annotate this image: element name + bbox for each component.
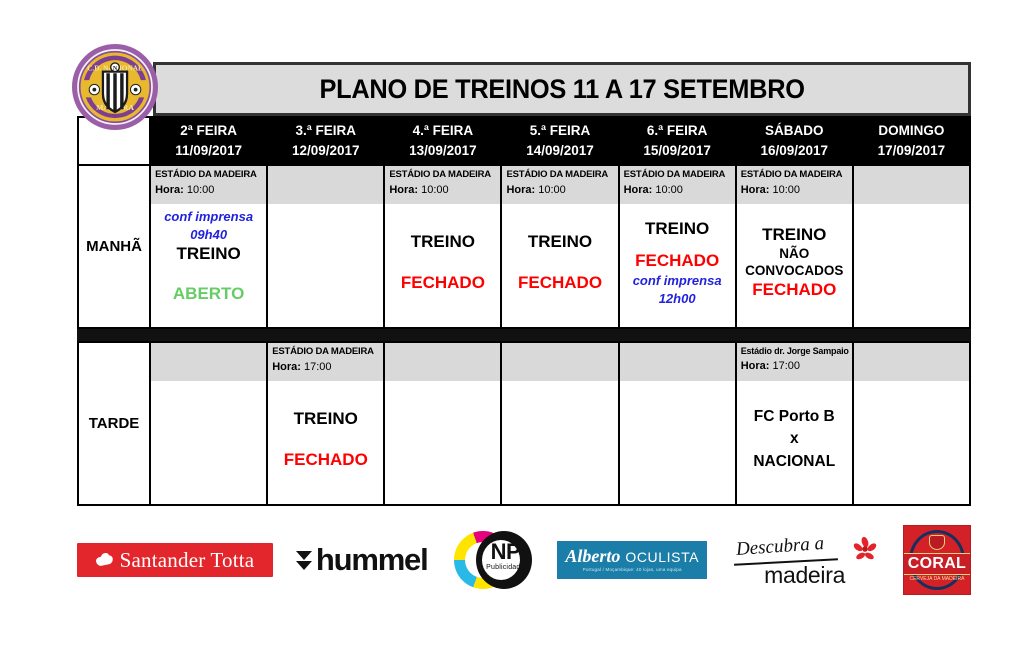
slot-header — [268, 166, 383, 204]
slot-header: ESTÁDIO DA MADEIRA Hora: 10:00 — [151, 166, 266, 204]
hour-prefix: Hora: — [155, 184, 184, 196]
slot-morning-monday: ESTÁDIO DA MADEIRA Hora: 10:00 conf impr… — [150, 165, 267, 328]
period-label-morning: MANHÃ — [78, 165, 150, 328]
press-conference-label: conf imprensa — [633, 272, 722, 290]
slot-body: TREINO FECHADO conf imprensa 12h00 — [620, 204, 735, 327]
sponsor-name: Alberto — [565, 547, 620, 565]
slot-hour: Hora: 17:00 — [272, 360, 379, 374]
sponsor-strip: Santander Totta hummel NP Publicidade — [77, 520, 971, 600]
status-badge: FECHADO — [518, 272, 602, 294]
slot-header — [620, 343, 735, 381]
hour-prefix: Hora: — [389, 184, 418, 196]
day-header-monday: 2ª FEIRA 11/09/2017 — [150, 117, 267, 165]
day-header-thursday: 5.ª FEIRA 14/09/2017 — [501, 117, 618, 165]
day-header-sunday: DOMINGO 17/09/2017 — [853, 117, 970, 165]
slot-venue: ESTÁDIO DA MADEIRA — [272, 346, 379, 358]
slot-body: TREINO FECHADO — [268, 381, 383, 504]
sponsor-name-secondary: madeira — [764, 562, 845, 589]
slot-venue: ESTÁDIO DA MADEIRA — [155, 169, 262, 181]
divider-cell — [78, 328, 150, 342]
day-name: DOMINGO — [854, 121, 969, 141]
slot-body: conf imprensa 09h40 TREINO ABERTO — [151, 204, 266, 327]
match-versus: x — [790, 428, 799, 450]
day-name: 5.ª FEIRA — [502, 121, 617, 141]
slot-venue: ESTÁDIO DA MADEIRA — [389, 169, 496, 181]
sponsor-santander-totta: Santander Totta — [77, 543, 273, 577]
slot-body — [854, 204, 969, 327]
slot-header — [502, 343, 617, 381]
sponsor-np-publicidade: NP Publicidade — [450, 525, 534, 595]
press-conference-time: 09h40 — [190, 226, 227, 244]
slot-afternoon-thursday — [501, 342, 618, 505]
slot-header: Estádio dr. Jorge Sampaio Hora: 17:00 — [737, 343, 852, 381]
sponsor-descubra-a-madeira: Descubra a madeira — [730, 532, 880, 588]
day-name: 2ª FEIRA — [151, 121, 266, 141]
slot-morning-tuesday — [267, 165, 384, 328]
afternoon-row: TARDE ESTÁDIO DA MADEIRA Ho — [78, 342, 970, 505]
hour-prefix: Hora: — [506, 184, 535, 196]
status-badge: FECHADO — [284, 449, 368, 471]
row-divider — [78, 328, 970, 342]
slot-venue: Estádio dr. Jorge Sampaio — [741, 346, 848, 357]
sponsor-tagline: Portugal / Moçambique: 40 lojas, uma equ… — [583, 568, 682, 573]
slot-afternoon-wednesday — [384, 342, 501, 505]
slot-morning-friday: ESTÁDIO DA MADEIRA Hora: 10:00 TREINO FE… — [619, 165, 736, 328]
training-schedule-table: 2ª FEIRA 11/09/2017 3.ª FEIRA 12/09/2017… — [77, 116, 971, 506]
sponsor-name: hummel — [316, 542, 428, 578]
day-header-wednesday: 4.ª FEIRA 13/09/2017 — [384, 117, 501, 165]
activity-label: TREINO — [762, 224, 826, 246]
slot-afternoon-friday — [619, 342, 736, 505]
slot-afternoon-tuesday: ESTÁDIO DA MADEIRA Hora: 17:00 TREINO FE… — [267, 342, 384, 505]
morning-row: MANHÃ ESTÁDIO DA MADEIRA Hora: 10:00 con… — [78, 165, 970, 328]
day-date: 17/09/2017 — [854, 141, 969, 161]
slot-header: ESTÁDIO DA MADEIRA Hora: 10:00 — [737, 166, 852, 204]
slot-afternoon-monday — [150, 342, 267, 505]
slot-morning-wednesday: ESTÁDIO DA MADEIRA Hora: 10:00 TREINO FE… — [384, 165, 501, 328]
match-home-team: FC Porto B — [754, 406, 835, 428]
period-label-afternoon: TARDE — [78, 342, 150, 505]
hour-value: 10:00 — [655, 184, 683, 196]
slot-body: FC Porto B x NACIONAL — [737, 381, 852, 504]
activity-label: TREINO — [177, 243, 241, 265]
day-header-friday: 6.ª FEIRA 15/09/2017 — [619, 117, 736, 165]
sponsor-name: Santander Totta — [120, 548, 255, 573]
santander-flame-icon — [96, 553, 113, 568]
sponsor-name: Descubra a — [735, 533, 824, 561]
hour-value: 10:00 — [538, 184, 566, 196]
training-plan-poster: C.D. NACIONAL MADEIRA N PLANO DE TREINOS… — [0, 0, 1024, 656]
hour-value: 17:00 — [304, 361, 332, 373]
hour-prefix: Hora: — [741, 360, 770, 372]
slot-afternoon-saturday: Estádio dr. Jorge Sampaio Hora: 17:00 FC… — [736, 342, 853, 505]
slot-morning-saturday: ESTÁDIO DA MADEIRA Hora: 10:00 TREINO NÃ… — [736, 165, 853, 328]
status-badge: ABERTO — [173, 283, 244, 305]
day-date: 16/09/2017 — [737, 141, 852, 161]
hour-value: 10:00 — [187, 184, 215, 196]
coral-crest-icon — [929, 535, 945, 550]
slot-morning-thursday: ESTÁDIO DA MADEIRA Hora: 10:00 TREINO FE… — [501, 165, 618, 328]
slot-hour: Hora: 10:00 — [624, 183, 731, 197]
day-date: 14/09/2017 — [502, 141, 617, 161]
sponsor-name: NP — [481, 541, 529, 563]
slot-body — [854, 381, 969, 504]
day-name: 4.ª FEIRA — [385, 121, 500, 141]
hour-prefix: Hora: — [741, 184, 770, 196]
day-date: 11/09/2017 — [151, 141, 266, 161]
sponsor-tagline: Publicidade — [481, 563, 529, 574]
sponsor-name: CORAL — [904, 553, 970, 575]
activity-label: TREINO — [411, 231, 475, 253]
sponsor-alberto-oculista: Alberto OCULISTA Portugal / Moçambique: … — [557, 541, 707, 579]
divider-cell — [150, 328, 970, 342]
slot-hour: Hora: 10:00 — [741, 183, 848, 197]
slot-hour: Hora: 10:00 — [506, 183, 613, 197]
slot-afternoon-sunday — [853, 342, 970, 505]
slot-hour: Hora: 17:00 — [741, 359, 848, 373]
slot-morning-sunday — [853, 165, 970, 328]
table-header-row: 2ª FEIRA 11/09/2017 3.ª FEIRA 12/09/2017… — [78, 117, 970, 165]
activity-label: TREINO — [528, 231, 592, 253]
press-conference-label: conf imprensa — [164, 208, 253, 226]
day-header-saturday: SÁBADO 16/09/2017 — [736, 117, 853, 165]
activity-subtitle: NÃO CONVOCADOS — [739, 246, 850, 278]
slot-body — [502, 381, 617, 504]
slot-header: ESTÁDIO DA MADEIRA Hora: 10:00 — [502, 166, 617, 204]
day-name: SÁBADO — [737, 121, 852, 141]
sponsor-tagline: CERVEJA DA MADEIRA — [904, 576, 970, 584]
slot-body: TREINO FECHADO — [502, 204, 617, 327]
hour-value: 17:00 — [773, 360, 801, 372]
slot-venue: ESTÁDIO DA MADEIRA — [506, 169, 613, 181]
slot-venue: ESTÁDIO DA MADEIRA — [624, 169, 731, 181]
slot-body — [268, 204, 383, 327]
activity-label: TREINO — [294, 408, 358, 430]
slot-body — [385, 381, 500, 504]
hour-prefix: Hora: — [272, 361, 301, 373]
slot-header — [385, 343, 500, 381]
status-badge: FECHADO — [635, 250, 719, 272]
slot-header: ESTÁDIO DA MADEIRA Hora: 10:00 — [385, 166, 500, 204]
match-away-team: NACIONAL — [753, 451, 835, 473]
press-conference-time: 12h00 — [659, 290, 696, 308]
day-date: 12/09/2017 — [268, 141, 383, 161]
slot-header — [854, 343, 969, 381]
status-badge: FECHADO — [752, 279, 836, 301]
hour-value: 10:00 — [773, 184, 801, 196]
madeira-flower-icon — [852, 536, 878, 562]
sponsor-name-secondary: OCULISTA — [625, 550, 699, 564]
slot-header: ESTÁDIO DA MADEIRA Hora: 17:00 — [268, 343, 383, 381]
day-date: 15/09/2017 — [620, 141, 735, 161]
day-header-tuesday: 3.ª FEIRA 12/09/2017 — [267, 117, 384, 165]
slot-header — [151, 343, 266, 381]
slot-body — [620, 381, 735, 504]
page-title: PLANO DE TREINOS 11 A 17 SETEMBRO — [319, 74, 804, 105]
slot-hour: Hora: 10:00 — [389, 183, 496, 197]
activity-label: TREINO — [645, 218, 709, 240]
day-date: 13/09/2017 — [385, 141, 500, 161]
poster-title-bar: PLANO DE TREINOS 11 A 17 SETEMBRO — [153, 62, 971, 116]
slot-header: ESTÁDIO DA MADEIRA Hora: 10:00 — [620, 166, 735, 204]
status-badge: FECHADO — [401, 272, 485, 294]
hour-value: 10:00 — [421, 184, 449, 196]
sponsor-coral: CORAL CERVEJA DA MADEIRA — [903, 525, 971, 595]
slot-header — [854, 166, 969, 204]
slot-body: TREINO FECHADO — [385, 204, 500, 327]
club-crest-icon: C.D. NACIONAL MADEIRA N — [72, 44, 158, 130]
day-name: 3.ª FEIRA — [268, 121, 383, 141]
slot-body — [151, 381, 266, 504]
svg-text:N: N — [113, 66, 118, 72]
hummel-chevron-icon — [296, 551, 312, 570]
slot-venue: ESTÁDIO DA MADEIRA — [741, 169, 848, 181]
day-name: 6.ª FEIRA — [620, 121, 735, 141]
slot-hour: Hora: 10:00 — [155, 183, 262, 197]
slot-body: TREINO NÃO CONVOCADOS FECHADO — [737, 204, 852, 327]
hour-prefix: Hora: — [624, 184, 653, 196]
sponsor-hummel: hummel — [296, 542, 428, 578]
